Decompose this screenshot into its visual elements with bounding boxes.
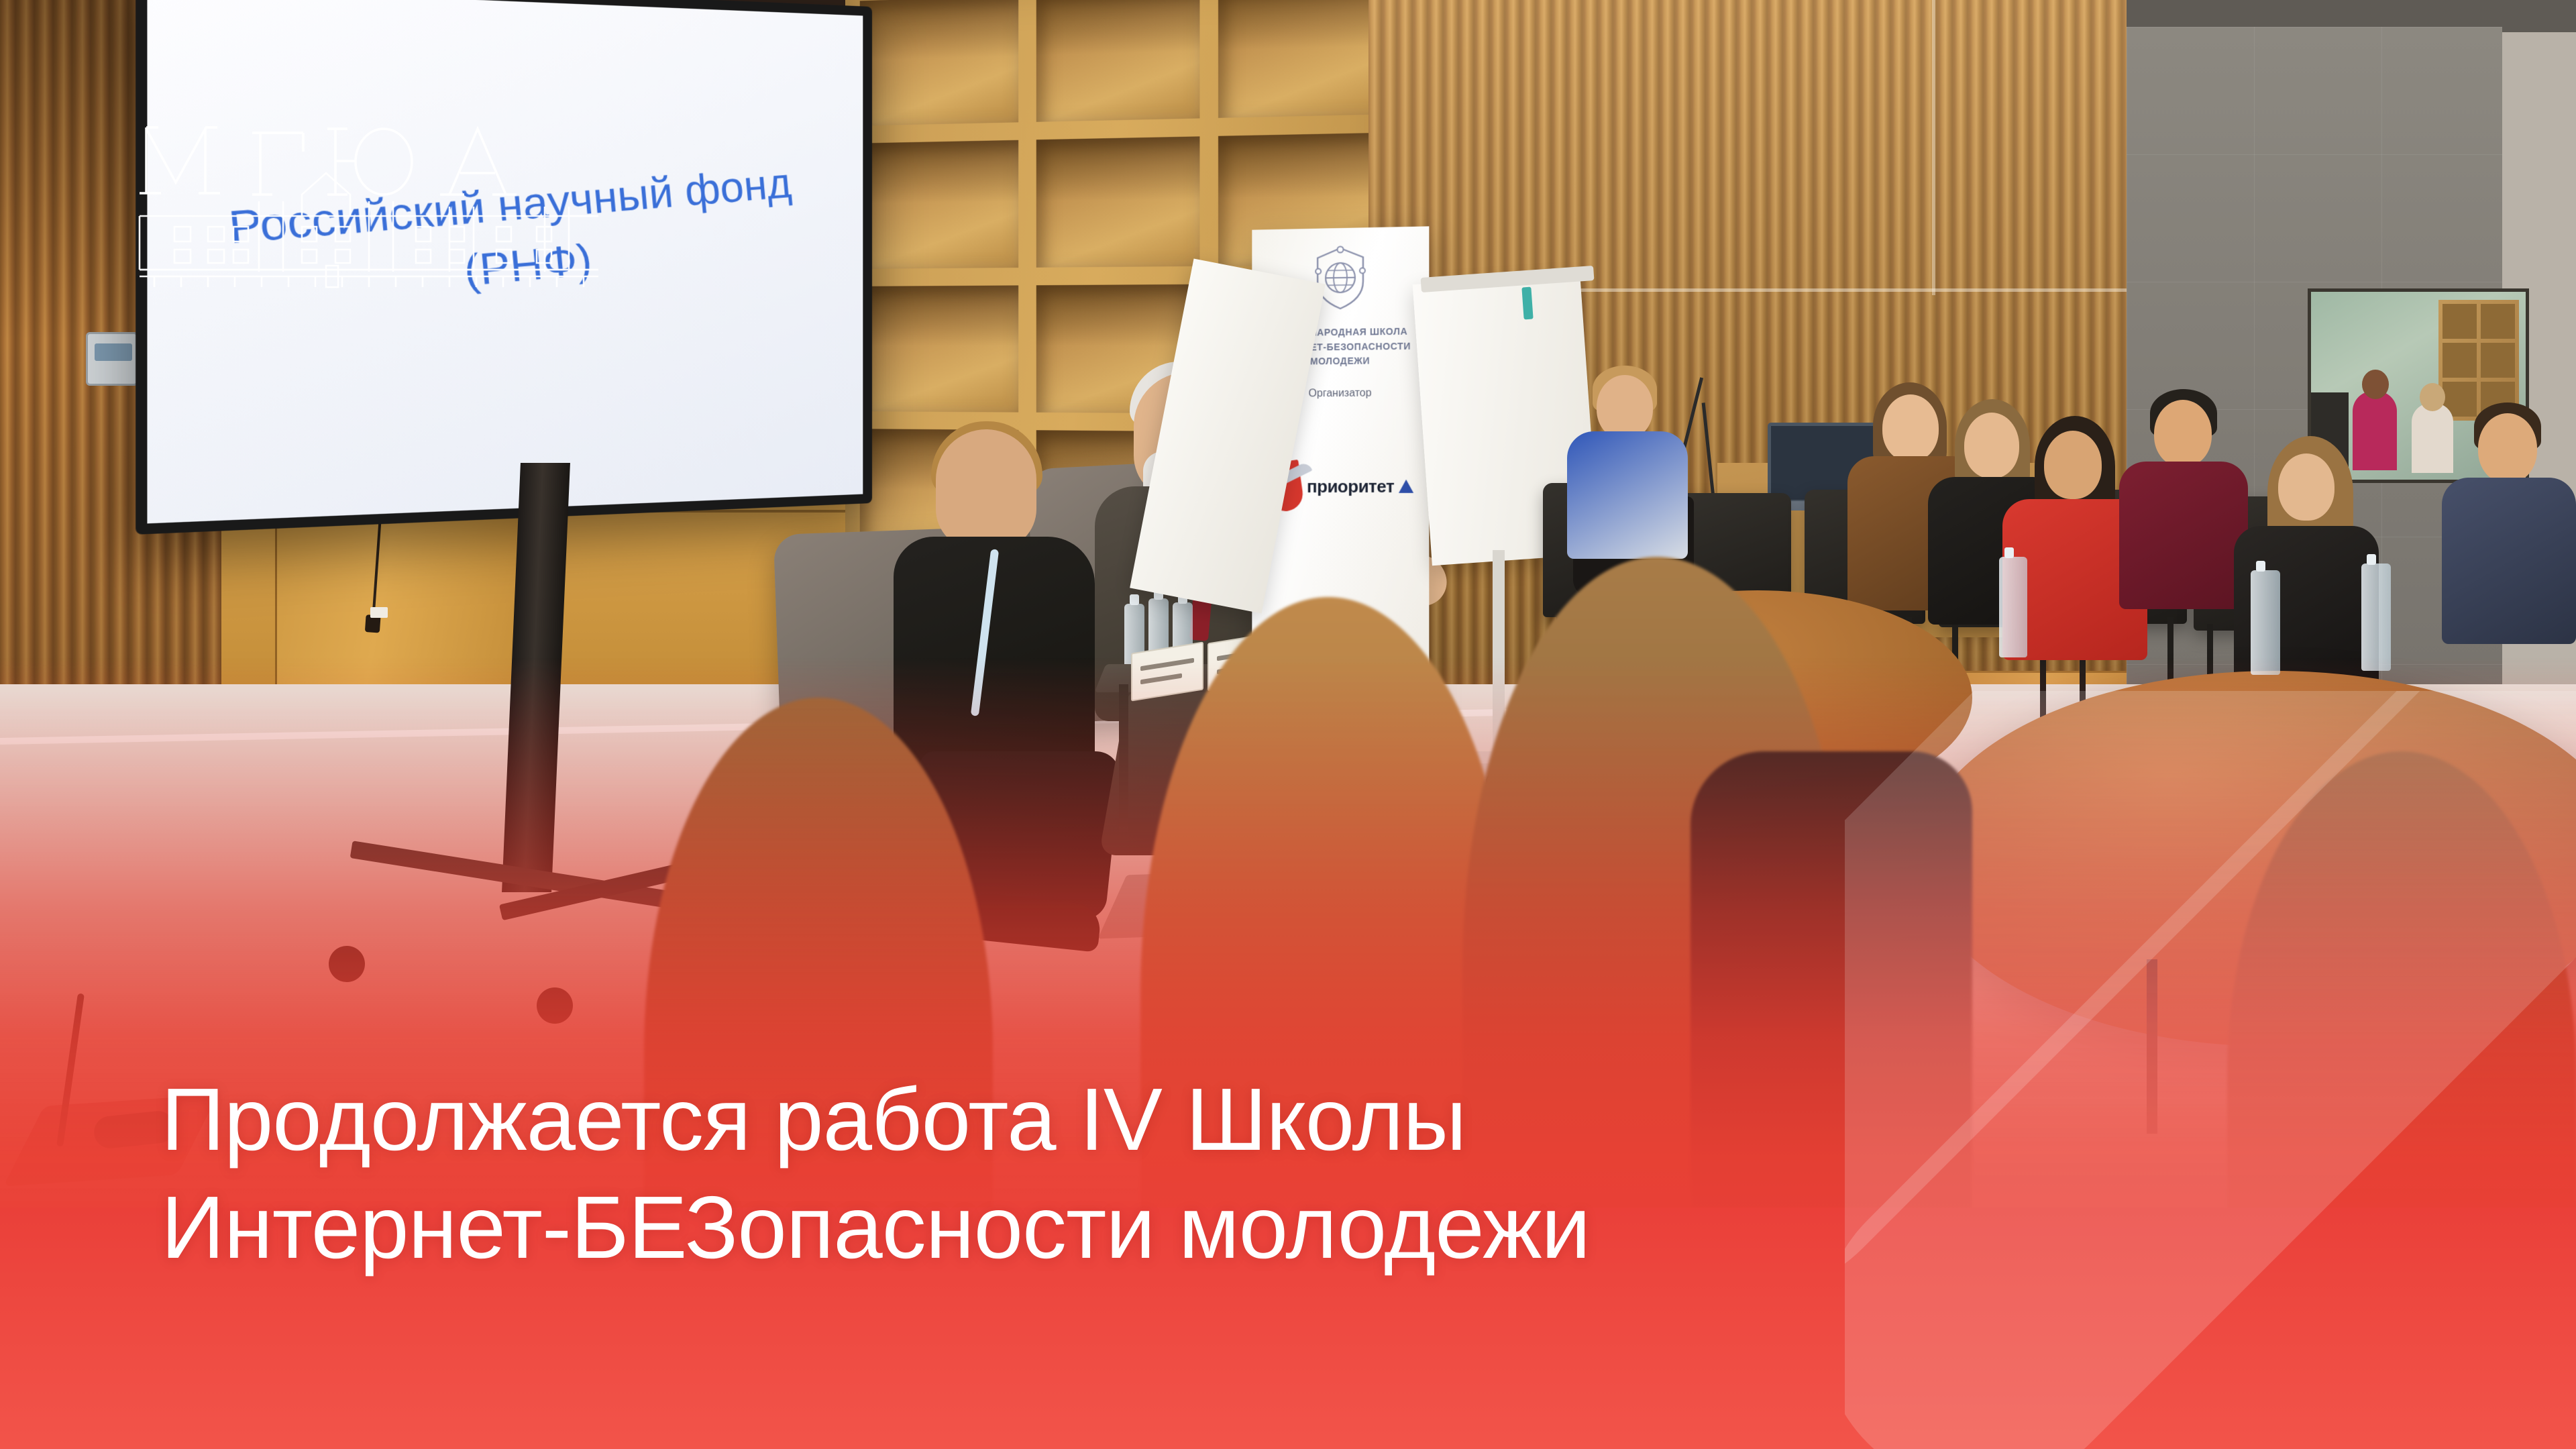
shelf-cell: [860, 140, 1018, 268]
foreground-audience-head: [1140, 597, 1516, 1449]
event-banner-card: Российский научный фонд(РНФ): [0, 0, 2576, 1449]
prioritet-logo: приоритет: [1307, 476, 1413, 496]
presentation-screen: Российский научный фонд(РНФ): [147, 0, 863, 523]
shelf-cell: [1036, 0, 1199, 122]
cable-tag: [370, 607, 388, 618]
audience-person: [1563, 366, 1690, 553]
water-bottle: [2361, 563, 2391, 671]
water-bottle: [1999, 557, 2027, 657]
presentation-display: Российский научный фонд(РНФ): [136, 0, 872, 535]
shelf-cell: [1036, 137, 1199, 268]
prioritet-triangle-icon: [1399, 480, 1413, 493]
screen-slide-text: Российский научный фонд(РНФ): [182, 154, 835, 323]
shelf-cell: [860, 285, 1018, 413]
headline-line-2: Интернет-БЕЗопасности молодежи: [161, 1173, 1590, 1281]
audience-person: [2116, 389, 2251, 610]
caster-wheel: [537, 987, 573, 1024]
audience-person: [2442, 402, 2576, 644]
thermostat-panel: [86, 332, 138, 386]
caster-wheel: [329, 946, 365, 982]
shelf-cell: [1218, 0, 1388, 118]
foreground-audience-head: [2227, 751, 2576, 1449]
shelf-cell: [860, 0, 1018, 126]
headline-line-1: Продолжается работа IV Школы: [161, 1065, 1590, 1173]
headline: Продолжается работа IV Школы Интернет-БЕ…: [161, 1065, 1590, 1281]
foreground-chair-back: [1690, 751, 1972, 1409]
wall-seam: [1932, 0, 1935, 295]
prioritet-label: приоритет: [1307, 476, 1394, 496]
water-bottle: [2251, 570, 2280, 675]
